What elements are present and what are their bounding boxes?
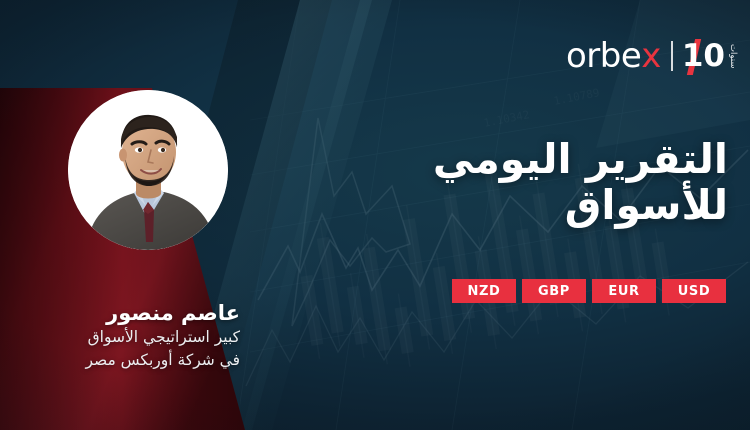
currency-badge-usd[interactable]: USD: [662, 279, 726, 303]
anniversary-number: 10: [682, 38, 725, 74]
anniversary-years-label: سنوات: [728, 44, 738, 68]
speaker-name: عاصم منصور: [0, 300, 240, 326]
currency-badge-list: USD EUR GBP NZD: [452, 279, 726, 303]
anniversary-mark: 10: [682, 41, 725, 72]
orbex-wordmark-main: orbe: [566, 36, 641, 76]
speaker-role-line-2: في شركة أوربكس مصر: [0, 349, 240, 371]
speaker-info: عاصم منصور كبير استراتيجي الأسواق في شرك…: [0, 300, 248, 371]
orbex-logo[interactable]: orbex 10 سنوات: [566, 36, 738, 76]
speaker-portrait-photo: [68, 90, 228, 250]
currency-badge-gbp[interactable]: GBP: [522, 279, 586, 303]
speaker-role-line-1: كبير استراتيجي الأسواق: [0, 326, 240, 348]
page-title-line-1: التقرير اليومي: [433, 135, 728, 183]
orbex-wordmark: orbex: [566, 39, 661, 73]
page-title-line-2: للأسواق: [433, 183, 728, 229]
orbex-wordmark-x: x: [641, 36, 661, 76]
logo-separator-bar: [671, 41, 673, 71]
orbex-daily-market-report-banner: 1.10789 1.10342: [0, 0, 750, 430]
portrait-illustration: [68, 90, 228, 250]
page-title: التقرير اليومي للأسواق: [433, 137, 728, 229]
currency-badge-nzd[interactable]: NZD: [452, 279, 516, 303]
currency-badge-eur[interactable]: EUR: [592, 279, 656, 303]
